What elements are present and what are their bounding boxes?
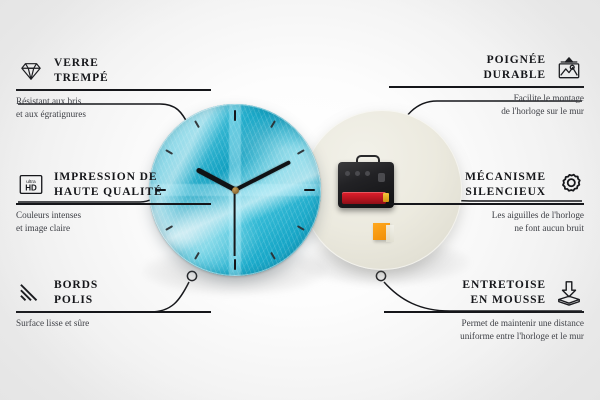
feature-desc-line2: et aux égratignures <box>16 109 86 119</box>
feature-bords-polis[interactable]: BORDS POLIS Surface lisse et sûre <box>16 278 211 330</box>
feature-desc-line1: Surface lisse et sûre <box>16 318 89 328</box>
feature-title-line2: TREMPÉ <box>54 72 109 84</box>
feature-verre-trempe[interactable]: VERRE TREMPÉ Résistant aux bris et aux é… <box>16 56 211 121</box>
feature-title-line1: VERRE <box>54 57 99 69</box>
foam-spacer <box>373 223 390 240</box>
divider <box>16 311 211 313</box>
divider <box>389 86 584 88</box>
feature-title-line1: ENTRETOISE <box>462 279 546 291</box>
battery <box>342 192 386 204</box>
polished-edges-icon <box>16 280 46 306</box>
feature-poignee-durable[interactable]: POIGNÉE DURABLE Facilite le montage de <box>389 53 584 118</box>
quartz-mechanism <box>338 162 394 208</box>
feature-desc-line1: Couleurs intenses <box>16 210 81 220</box>
divider <box>389 203 584 205</box>
feature-title-line1: BORDS <box>54 279 98 291</box>
feature-entretoise-en-mousse[interactable]: ENTRETOISE EN MOUSSE Permet de maintenir… <box>384 278 584 343</box>
feature-desc-line2: et image claire <box>16 223 70 233</box>
ultra-hd-badge-icon: ultra HD <box>16 172 46 198</box>
divider <box>16 89 211 91</box>
divider <box>384 311 584 313</box>
feature-desc-line2: uniforme entre l'horloge et le mur <box>460 331 584 341</box>
diamond-icon <box>16 58 46 84</box>
svg-text:HD: HD <box>25 184 37 193</box>
feature-title-line1: POIGNÉE <box>487 54 546 66</box>
feature-title-line2: POLIS <box>54 294 93 306</box>
infographic-canvas: VERRE TREMPÉ Résistant aux bris et aux é… <box>0 0 600 400</box>
feature-desc-line1: Permet de maintenir une distance <box>462 318 584 328</box>
feature-title-line2: HAUTE QUALITÉ <box>54 186 163 198</box>
divider <box>16 203 211 205</box>
feature-desc-line1: Les aiguilles de l'horloge <box>492 210 584 220</box>
feature-desc-line1: Facilite le montage <box>514 93 584 103</box>
feature-desc-line2: ne font aucun bruit <box>514 223 584 233</box>
feature-desc-line2: de l'horloge sur le mur <box>501 106 584 116</box>
hanging-picture-frame-icon <box>554 55 584 81</box>
feature-mecanisme-silencieux[interactable]: MÉCANISME SILENCIEUX Les aiguilles de l'… <box>389 170 584 235</box>
feature-impression-haute-qualite[interactable]: ultra HD IMPRESSION DE HAUTE QUALITÉ Cou… <box>16 170 211 235</box>
feature-title-line2: DURABLE <box>483 69 546 81</box>
feature-desc-line1: Résistant aux bris <box>16 96 81 106</box>
feature-title-line2: EN MOUSSE <box>470 294 546 306</box>
feature-title-line1: IMPRESSION DE <box>54 171 157 183</box>
foam-spacer-arrow-icon <box>554 280 584 306</box>
feature-title-line1: MÉCANISME <box>465 171 546 183</box>
feature-title-line2: SILENCIEUX <box>465 186 546 198</box>
gear-icon <box>554 172 584 198</box>
